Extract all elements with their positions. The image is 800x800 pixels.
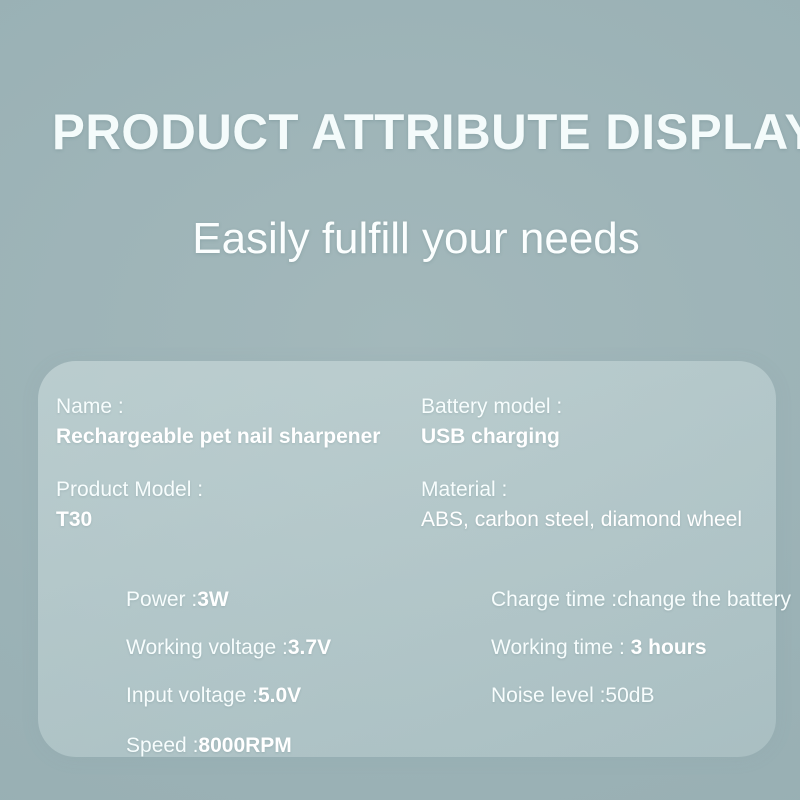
product-attribute-page: PRODUCT ATTRIBUTE DISPLAY Easily fulfill… <box>0 0 800 800</box>
spec-value-battery-model: USB charging <box>421 422 771 452</box>
spec-label-battery-model: Battery model : <box>421 392 771 422</box>
spec-row-name: Name : Rechargeable pet nail sharpener <box>56 392 424 452</box>
page-title: PRODUCT ATTRIBUTE DISPLAY <box>52 104 763 160</box>
specification-columns: Name : Rechargeable pet nail sharpener P… <box>38 361 776 757</box>
page-subtitle: Easily fulfill your needs <box>60 212 772 266</box>
spec-value-product-model: T30 <box>56 505 424 535</box>
spec-row-battery-model: Battery model : USB charging <box>421 392 771 452</box>
spec-inline-speed: Speed :8000RPM <box>56 701 424 791</box>
spec-label-material: Material : <box>421 475 771 505</box>
spec-value-material: ABS, carbon steel, diamond wheel <box>421 505 771 535</box>
spec-row-noise-level: Noise level :50dB <box>421 651 771 741</box>
spec-row-product-model: Product Model : T30 <box>56 475 424 535</box>
spec-label-name: Name : <box>56 392 424 422</box>
spec-row-material: Material : ABS, carbon steel, diamond wh… <box>421 475 771 535</box>
specification-panel: Name : Rechargeable pet nail sharpener P… <box>38 361 776 757</box>
spec-column-left: Name : Rechargeable pet nail sharpener P… <box>56 361 424 757</box>
spec-label-product-model: Product Model : <box>56 475 424 505</box>
spec-label-noise-level: Noise level : <box>491 684 605 707</box>
spec-row-speed: Speed :8000RPM <box>56 701 424 791</box>
spec-inline-noise-level: Noise level :50dB <box>421 651 771 741</box>
spec-value-noise-level: 50dB <box>605 684 654 707</box>
spec-value-speed: 8000RPM <box>198 734 291 757</box>
spec-label-speed: Speed : <box>126 734 198 757</box>
spec-value-name: Rechargeable pet nail sharpener <box>56 422 424 452</box>
spec-column-right: Battery model : USB charging Material : … <box>421 361 771 757</box>
